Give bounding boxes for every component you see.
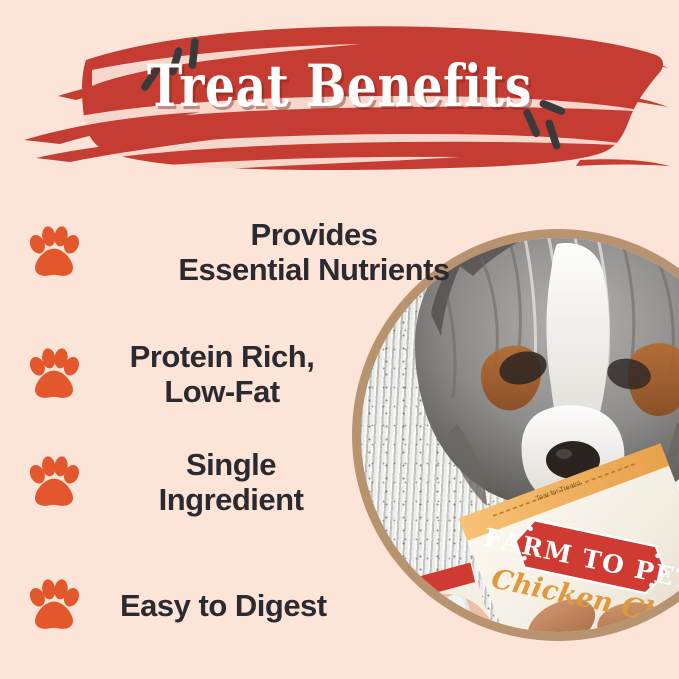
benefit-line: Provides bbox=[178, 218, 450, 253]
treat-bag-photo: Tear for Treats! FARM TO PE bbox=[361, 238, 679, 632]
benefit-row-easy-to-digest: Easy to Digest bbox=[26, 578, 386, 634]
benefit-row-protein-rich-low-fat: Protein Rich, Low-Fat bbox=[26, 340, 356, 409]
photo-inner: Tear for Treats! FARM TO PE bbox=[361, 238, 679, 632]
product-photo-circle: Tear for Treats! FARM TO PE bbox=[352, 229, 679, 641]
header-banner: Treat Benefits bbox=[0, 0, 679, 200]
benefit-line: Protein Rich, bbox=[122, 340, 322, 375]
benefit-line: Single bbox=[136, 448, 326, 483]
paw-print-icon bbox=[26, 225, 82, 281]
benefit-row-single-ingredient: Single Ingredient bbox=[26, 448, 356, 517]
page-title: Treat Benefits bbox=[61, 54, 618, 118]
benefit-label: Provides Essential Nutrients bbox=[178, 218, 450, 287]
paw-print-icon bbox=[26, 455, 82, 511]
benefit-line: Essential Nutrients bbox=[178, 253, 450, 288]
benefit-line: Low-Fat bbox=[122, 375, 322, 410]
benefit-label: Protein Rich, Low-Fat bbox=[122, 340, 322, 409]
benefit-label: Single Ingredient bbox=[136, 448, 326, 517]
benefit-label: Easy to Digest bbox=[120, 589, 327, 624]
benefit-row-provides-essential-nutrients: Provides Essential Nutrients bbox=[26, 218, 456, 287]
benefit-line: Easy to Digest bbox=[120, 589, 327, 624]
treat-benefits-infographic: Treat Benefits bbox=[0, 0, 679, 679]
benefit-line: Ingredient bbox=[136, 483, 326, 518]
paw-print-icon bbox=[26, 347, 82, 403]
paw-print-icon bbox=[26, 578, 82, 634]
